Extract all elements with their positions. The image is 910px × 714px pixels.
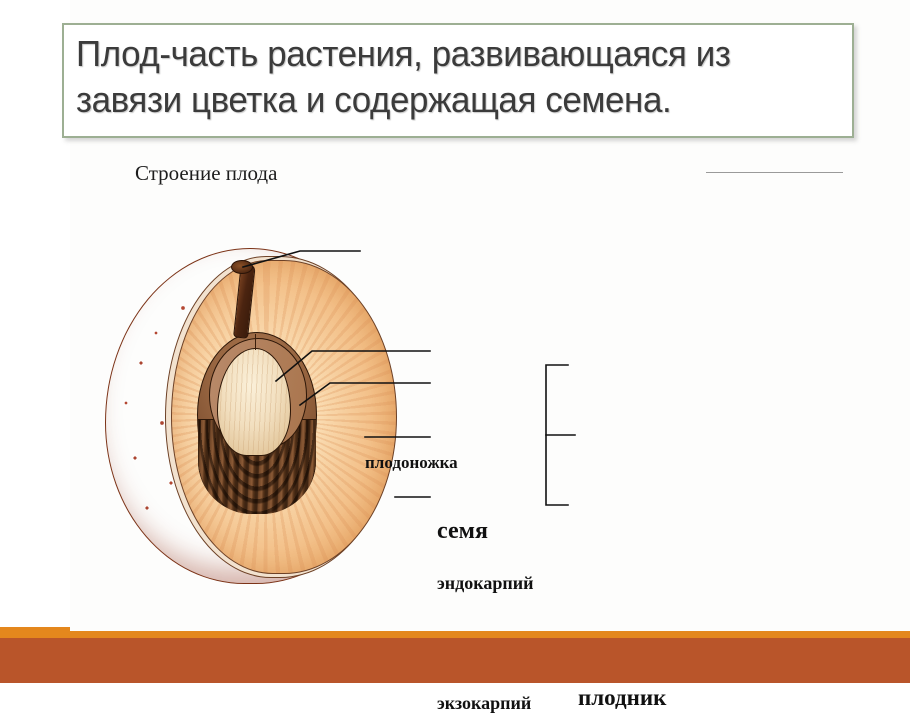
leader-line-seed bbox=[276, 351, 430, 381]
footer-bar bbox=[0, 638, 910, 683]
label-exocarp: экзокарпий bbox=[437, 693, 531, 714]
label-seed: семя bbox=[437, 518, 488, 545]
leader-line-endocarp bbox=[300, 383, 430, 405]
slide-canvas: Плод-часть растения, развивающаяся из за… bbox=[0, 0, 910, 683]
fruit-structure-figure: плодоножка семя эндокарпий мезокарпий эк… bbox=[0, 205, 910, 625]
figure-caption: Строение плода bbox=[135, 161, 277, 186]
leader-lines-group bbox=[0, 205, 910, 625]
label-stalk: плодоножка bbox=[365, 453, 458, 473]
leader-line-stalk bbox=[243, 251, 360, 267]
footer-accent-bar bbox=[0, 631, 910, 638]
label-endocarp: эндокарпий bbox=[437, 573, 533, 594]
decorative-rule bbox=[706, 172, 843, 173]
page-title: Плод-часть растения, развивающаяся из за… bbox=[76, 31, 825, 123]
title-box: Плод-часть растения, развивающаяся из за… bbox=[62, 23, 854, 138]
